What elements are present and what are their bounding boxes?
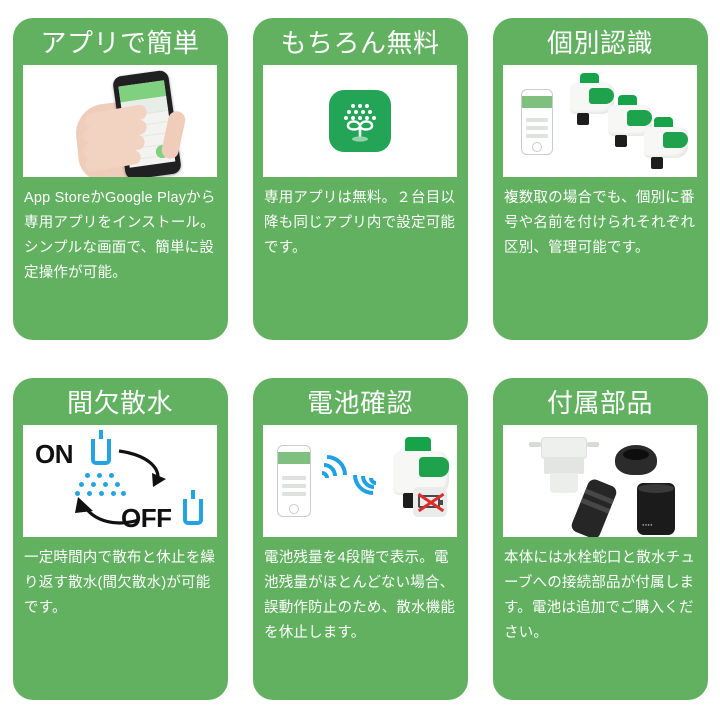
card-title: 電池確認 bbox=[307, 386, 413, 422]
included-parts-photo: ●●●● bbox=[503, 425, 697, 537]
sprinkler-head-off-icon bbox=[183, 499, 203, 525]
grid-cell-2: もちろん無料 専用アプリは無料。２ bbox=[240, 0, 480, 360]
card-title: もちろん無料 bbox=[280, 26, 439, 62]
rubber-ring-part bbox=[615, 445, 657, 477]
grid-cell-4: 間欠散水 ON bbox=[0, 360, 240, 720]
hose-connector-part bbox=[579, 481, 615, 537]
grid-cell-1: アプリで簡単 bbox=[0, 0, 240, 360]
grid-cell-5: 電池確認 bbox=[240, 360, 480, 720]
feature-card-app-easy: アプリで簡単 bbox=[13, 18, 228, 340]
hand-holding-smartphone-photo bbox=[23, 65, 217, 177]
feature-card-intermittent-watering: 間欠散水 ON bbox=[13, 378, 228, 700]
three-timers-and-phone-photo bbox=[503, 65, 697, 177]
grid-cell-6: 付属部品 bbox=[480, 360, 720, 720]
smartphone-mockup bbox=[277, 445, 311, 517]
card-body-text: 専用アプリは無料。２台目以降も同じアプリ内で設定可能です。 bbox=[264, 186, 456, 261]
on-off-cycle-diagram: ON bbox=[23, 425, 217, 537]
app-icon-sprinkler-image bbox=[263, 65, 457, 177]
feature-card-individual-recognition: 個別認識 bbox=[493, 18, 708, 340]
card-body-text: 一定時間内で散布と休止を繰り返す散水(間欠散水)が可能です。 bbox=[24, 546, 216, 621]
phone-wireless-timer-low-battery-image bbox=[263, 425, 457, 537]
card-body-text: 本体には水栓蛇口と散水チューブへの接続部品が付属します。電池は追加でご購入くださ… bbox=[504, 546, 696, 646]
water-timer-device bbox=[643, 117, 689, 169]
black-cylinder-part: ●●●● bbox=[637, 483, 675, 535]
grid-cell-3: 個別認識 bbox=[480, 0, 720, 360]
sprinkler-app-icon bbox=[329, 90, 391, 152]
card-body-text: 複数取の場合でも、個別に番号や名前を付けられそれぞれ区別、管理可能です。 bbox=[504, 186, 696, 261]
feature-card-battery-check: 電池確認 bbox=[253, 378, 468, 700]
card-body-text: App StoreかGoogle Playから専用アプリをインストール。シンプル… bbox=[24, 186, 216, 286]
card-body-text: 電池残量を4段階で表示。電池残量がほとんどない場合、誤動作防止のため、散水機能を… bbox=[264, 546, 456, 646]
card-title: 間欠散水 bbox=[67, 386, 173, 422]
smartphone-mockup bbox=[521, 89, 553, 155]
feature-card-included-parts: 付属部品 bbox=[493, 378, 708, 700]
feature-card-free-of-charge: もちろん無料 専用アプリは無料。２ bbox=[253, 18, 468, 340]
off-label: OFF bbox=[121, 503, 172, 534]
feature-card-grid: アプリで簡単 bbox=[0, 0, 720, 720]
card-title: 付属部品 bbox=[547, 386, 653, 422]
card-title: アプリで簡単 bbox=[40, 26, 199, 62]
low-battery-badge bbox=[413, 487, 447, 517]
card-title: 個別認識 bbox=[547, 26, 653, 62]
